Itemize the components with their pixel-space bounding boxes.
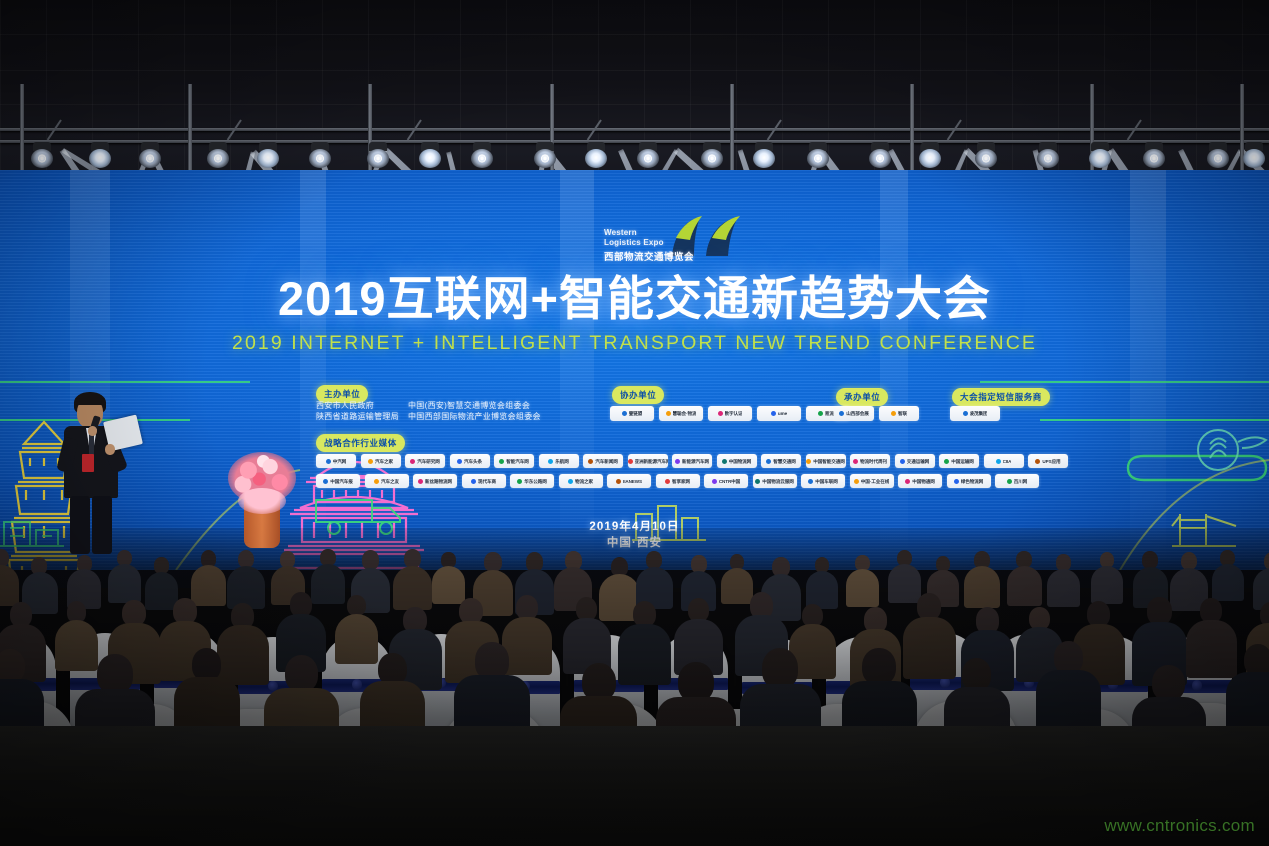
stage-light-fixture [256,142,280,168]
stage-light-fixture [138,142,162,168]
audience-torso [1186,620,1236,678]
logo-cn: 西部物流交通博览会 [604,249,696,263]
event-logo: Western Logistics Expo 西部物流交通博览会 [604,216,754,278]
audience-torso [1047,569,1080,607]
audience-head [1152,665,1185,702]
stage-light-fixture [418,142,442,168]
audience-torso [888,564,922,603]
sponsor-logo-chip: 中国车联网 [801,474,845,488]
page-subtitle: 2019 INTERNET + INTELLIGENT TRANSPORT NE… [0,332,1269,355]
chair-sash-buckle [352,679,363,690]
stage-light-fixture [700,142,724,168]
stage-light-fixture [1206,142,1230,168]
audience-head [862,648,896,686]
sponsor-logo-chip: 智享家网 [656,474,700,488]
stage-light-fixture [88,142,112,168]
sponsor-logo-chip: 智联 [879,406,919,421]
sponsor-logo-chip: 中国运输网 [939,454,979,468]
speaker-badge [82,454,94,472]
audience-head [97,654,132,694]
conference-photo: Western Logistics Expo 西部物流交通博览会 2019互联网… [0,0,1269,846]
audience-torso [393,566,431,610]
audience-head [762,648,798,689]
stage-light-fixture [1242,142,1266,168]
stage-light-fixture [470,142,494,168]
sponsor-logo-chip: 乐航网 [539,454,579,468]
sponsor-logo-chip: 亚洲新能源汽车网 [628,454,668,468]
hall-floor [0,726,1269,846]
sponsor-logo-chip: 中国·工业在线 [850,474,894,488]
sponsor-logo-chip: 物流之家 [559,474,603,488]
stage-light-fixture [206,142,230,168]
sponsor-logo-chip: 壹链盟 [610,406,654,421]
sponsor-logo-chip: 慧聪会·物流 [659,406,703,421]
audience-torso [1007,566,1042,606]
audience-torso [502,617,552,675]
chair-sash-buckle [1192,680,1203,691]
sponsor-logo-chip: 中国汽车报 [316,474,360,488]
sponsor-logo-chip: 汽车研究网 [405,454,445,468]
audience-torso [108,564,142,603]
stage-light-fixture [868,142,892,168]
sponsor-logo-chip: 中国物通网 [898,474,942,488]
stage-light-fixture [533,142,557,168]
audience-head [285,655,318,692]
page-title: 2019互联网+智能交通新趋势大会 [0,272,1269,326]
heading-sms-provider: 大会指定短信服务商 [952,388,1050,406]
heading-media: 战略合作行业媒体 [316,434,405,452]
audience-torso [618,624,671,685]
audience-torso [217,625,269,685]
sponsor-logo-chip: 山西部会展 [834,406,874,421]
organizer-names-left: 西安市人民政府 陕西省道路运输管理局 [316,401,399,422]
sponsor-logo-chip: IIANEWS [607,474,651,488]
stage-light-fixture [806,142,830,168]
sponsor-logo-chip: 交通运输网 [895,454,935,468]
audience-head [516,595,538,620]
sponsor-logo-chip: 新能源汽车网 [672,454,712,468]
sponsor-logo-chip: 中国智能交通网 [806,454,846,468]
sponsor-logo-chip: CIIA [984,454,1024,468]
heading-host: 承办单位 [836,388,888,406]
sponsor-logo-chip: 汽车头条 [450,454,490,468]
stage-light-fixture [974,142,998,168]
sponsor-logo-chip: 汽车新闻网 [583,454,623,468]
organizer-name: 中国(西安)智慧交通博览会组委会 [408,401,541,412]
sponsor-logo-chip: 现代车商 [462,474,506,488]
sponsor-logo-chip: 智慧交通网 [761,454,801,468]
audience-torso [1091,566,1123,604]
heading-co-organizers: 协办单位 [612,386,664,404]
audience-torso [1212,564,1244,601]
sponsor-logo-chip: 绿色物流网 [947,474,991,488]
audience-head [0,649,25,683]
stage-light-fixture [636,142,660,168]
sponsor-logo-chip: 中汽网 [316,454,356,468]
sponsor-logo-chip: 中国物流云服网 [753,474,797,488]
sponsor-logo-chip: 汽车之家 [361,454,401,468]
speaker [48,392,168,562]
stage-light-fixture [918,142,942,168]
audience-torso [903,617,957,679]
watermark: www.cntronics.com [1104,816,1255,836]
sponsor-logo-chip: UPS应用 [1028,454,1068,468]
stage-light-fixture [752,142,776,168]
audience-torso [55,620,99,671]
sponsor-logo-chip: 智能汽车网 [494,454,534,468]
stage-light-fixture [1142,142,1166,168]
sponsor-logo-chip: 物流时代周刊 [850,454,890,468]
audience-torso [846,569,879,607]
stage-light-fixture [30,142,54,168]
organizer-name: 中国西部国际物流产业博览会组委会 [408,412,541,423]
sponsor-logo-chip: 新丝路物流网 [413,474,457,488]
stage-light-fixture [584,142,608,168]
sponsor-logo-chip: 凌茂集团 [950,406,1000,421]
sponsor-logo-chip: 汽车之友 [365,474,409,488]
sponsor-logo-chip: 百川网 [995,474,1039,488]
audience-head [678,662,714,702]
audience-torso [191,565,226,606]
organizer-names-right: 中国(西安)智慧交通博览会组委会 中国西部国际物流产业博览会组委会 [408,401,541,422]
sponsor-logo-chip: CNTR中国 [704,474,748,488]
sponsor-logo-chip: 数字认证 [708,406,752,421]
stage-light-fixture [366,142,390,168]
sponsor-logo-chip: 华东公路网 [510,474,554,488]
audience-torso [311,564,346,604]
sponsor-logo-chip: 中国物流网 [717,454,757,468]
organizer-name: 西安市人民政府 [316,401,399,412]
audience-torso [721,568,753,604]
stage-light-fixture [1036,142,1060,168]
audience-torso [964,566,1000,608]
stage-light-fixture [1088,142,1112,168]
audience-head [1147,597,1172,625]
organizer-name: 陕西省道路运输管理局 [316,412,399,423]
audience-torso [335,614,378,664]
audience-torso [432,566,464,603]
logo-en-line1: Western [604,228,696,238]
stage-light-fixture [308,142,332,168]
sponsor-logo-chip: ume [757,406,801,421]
logo-en-line2: Logistics Expo [604,238,696,248]
